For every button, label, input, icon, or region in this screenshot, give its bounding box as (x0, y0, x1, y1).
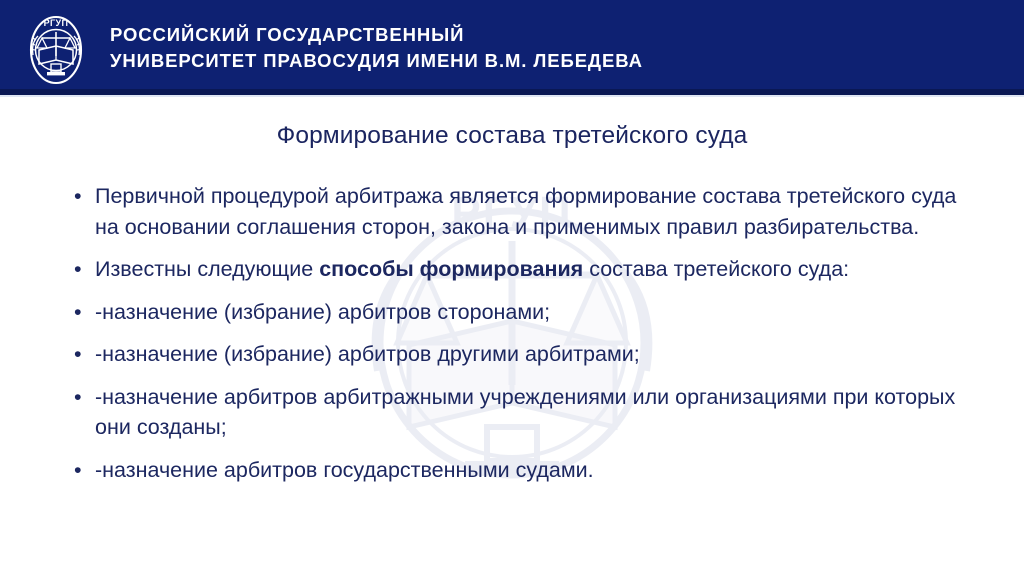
bullet-marker-icon: • (74, 297, 82, 328)
bullet-item-3-lead: -назначение (избрание) арбитров сторонам… (95, 300, 550, 324)
bullet-item-4-lead: -назначение (избрание) арбитров другими … (95, 342, 640, 366)
bullet-item-1: • Первичной процедурой арбитража являетс… (68, 181, 968, 242)
bullet-marker-icon: • (74, 254, 82, 285)
bullet-item-5: • -назначение арбитров арбитражными учре… (68, 382, 968, 443)
bullet-item-4-text: -назначение (избрание) арбитров другими … (95, 339, 968, 370)
rgup-emblem-logo-icon: РГУП (27, 10, 85, 85)
university-name-line-2: УНИВЕРСИТЕТ ПРАВОСУДИЯ ИМЕНИ В.М. ЛЕБЕДЕ… (110, 48, 810, 74)
bullet-item-4: • -назначение (избрание) арбитров другим… (68, 339, 968, 370)
bullet-marker-icon: • (74, 455, 82, 486)
bullet-item-1-lead: Первичной процедурой арбитража является … (95, 184, 956, 239)
bullet-item-3-text: -назначение (избрание) арбитров сторонам… (95, 297, 968, 328)
bullet-item-6-text: -назначение арбитров государственными су… (95, 455, 968, 486)
bullet-item-5-text: -назначение арбитров арбитражными учрежд… (95, 382, 968, 443)
bullet-marker-icon: • (74, 181, 82, 212)
svg-text:РГУП: РГУП (44, 18, 69, 28)
bullet-item-3: • -назначение (избрание) арбитров сторон… (68, 297, 968, 328)
bullet-item-6: • -назначение арбитров государственными … (68, 455, 968, 486)
bullet-item-5-lead: -назначение арбитров арбитражными учрежд… (95, 385, 955, 440)
bullet-item-2: • Известны следующие способы формировани… (68, 254, 968, 285)
bullet-item-6-lead: -назначение арбитров государственными су… (95, 458, 594, 482)
bullet-item-2-tail: состава третейского суда: (583, 257, 849, 281)
bullet-list: • Первичной процедурой арбитража являетс… (68, 181, 968, 485)
bullet-item-2-lead: Известны следующие (95, 257, 319, 281)
bullet-item-2-emphasis: способы формирования (319, 257, 583, 281)
bullet-item-2-text: Известны следующие способы формирования … (95, 254, 968, 285)
page-title: Формирование состава третейского суда (0, 122, 1024, 150)
bullet-item-1-text: Первичной процедурой арбитража является … (95, 181, 968, 242)
university-name: РОССИЙСКИЙ ГОСУДАРСТВЕННЫЙ УНИВЕРСИТЕТ П… (110, 22, 810, 74)
university-name-line-1: РОССИЙСКИЙ ГОСУДАРСТВЕННЫЙ (110, 22, 810, 48)
bullet-marker-icon: • (74, 339, 82, 370)
bullet-marker-icon: • (74, 382, 82, 413)
slide-content-area: РГУП Формирование состава третейского су… (0, 97, 1024, 574)
